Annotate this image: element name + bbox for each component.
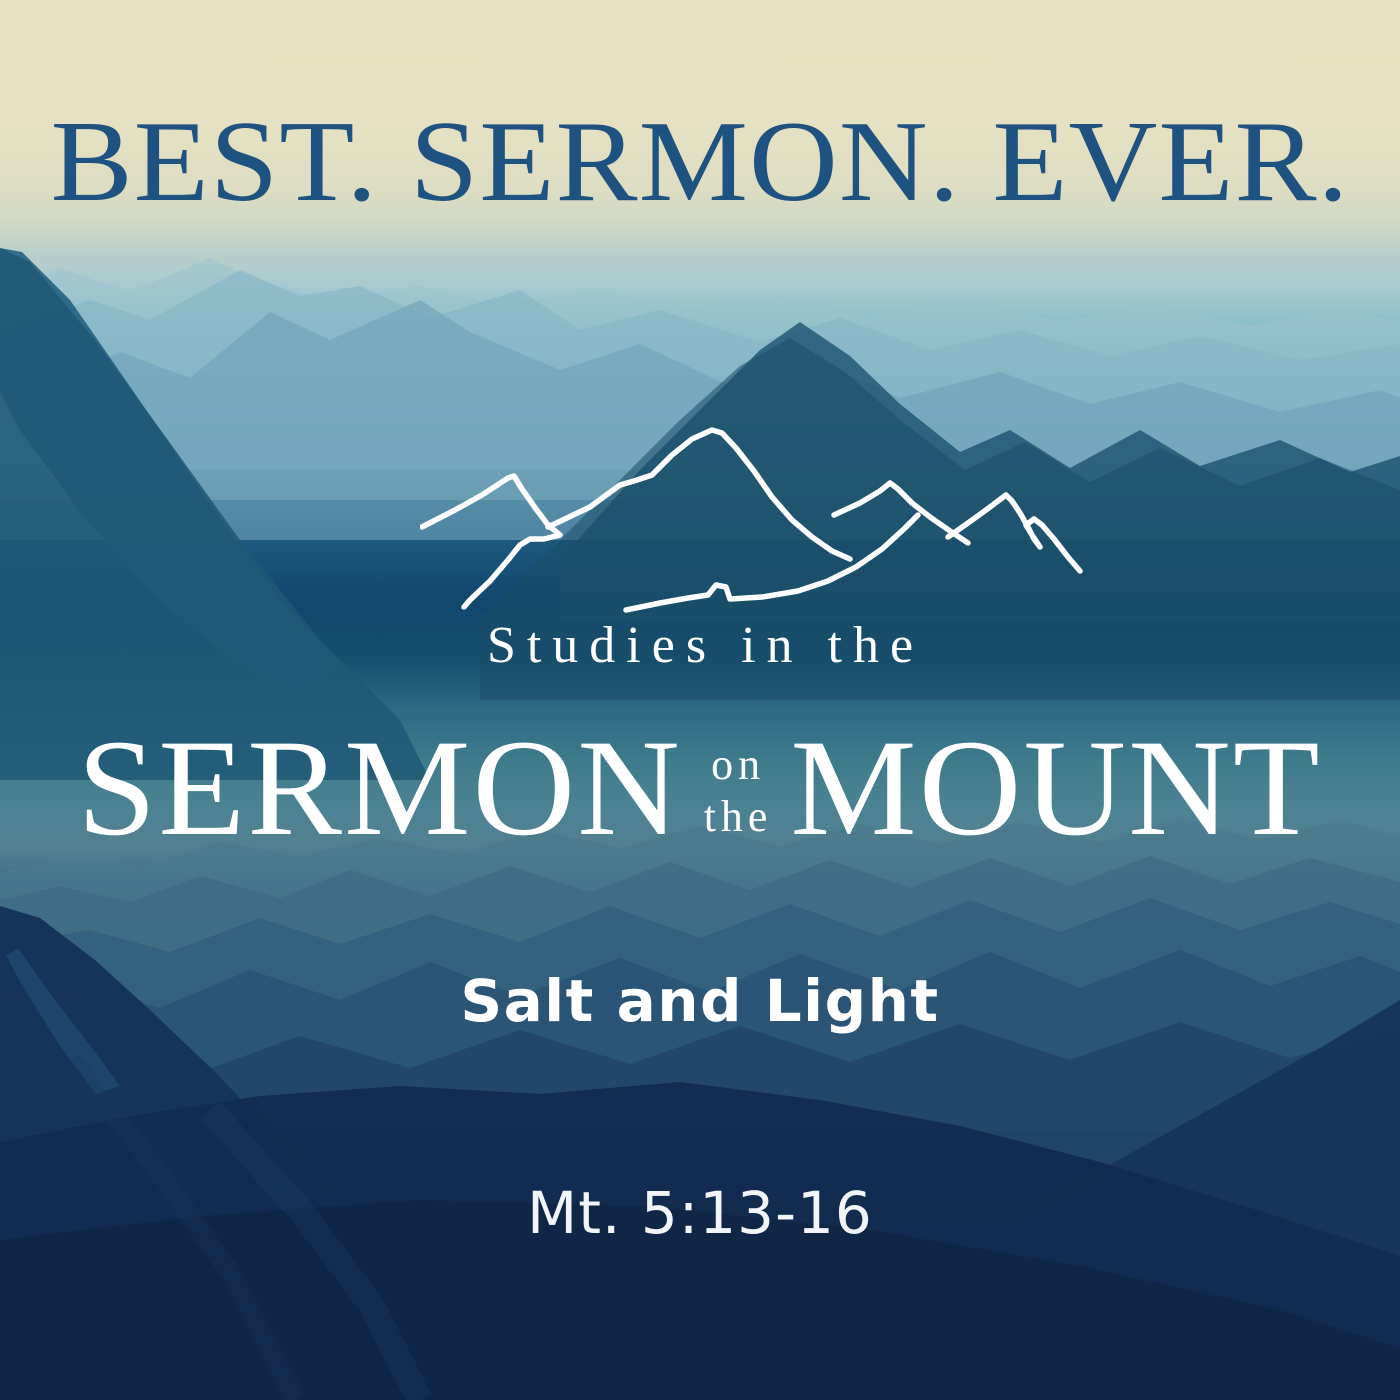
series-title-word-on: on [706, 739, 765, 791]
logo-main-peak [548, 430, 850, 559]
series-banner-headline: BEST. SERMON. EVER. [0, 104, 1400, 220]
logo-far-right-peaks [948, 495, 1080, 571]
slide-content: BEST. SERMON. EVER. Studies in t [0, 0, 1400, 1400]
series-title: SERMON on the MOUNT [0, 718, 1400, 859]
series-title-word-sermon: SERMON [77, 718, 682, 859]
scripture-reference: Mt. 5:13-16 [0, 1184, 1400, 1242]
series-title-word-the: the [699, 791, 773, 843]
mountain-range-line-logo [420, 415, 1100, 620]
series-title-word-mount: MOUNT [791, 718, 1322, 859]
series-title-stack-on-the: on the [699, 733, 773, 843]
logo-base-line [626, 515, 918, 610]
logo-left-peak [422, 476, 560, 607]
sermon-subtitle: Salt and Light [0, 972, 1400, 1030]
mountain-logo-svg [420, 415, 1100, 620]
title-eyebrow: Studies in the [0, 620, 1400, 672]
sermon-title-slide: BEST. SERMON. EVER. Studies in t [0, 0, 1400, 1400]
